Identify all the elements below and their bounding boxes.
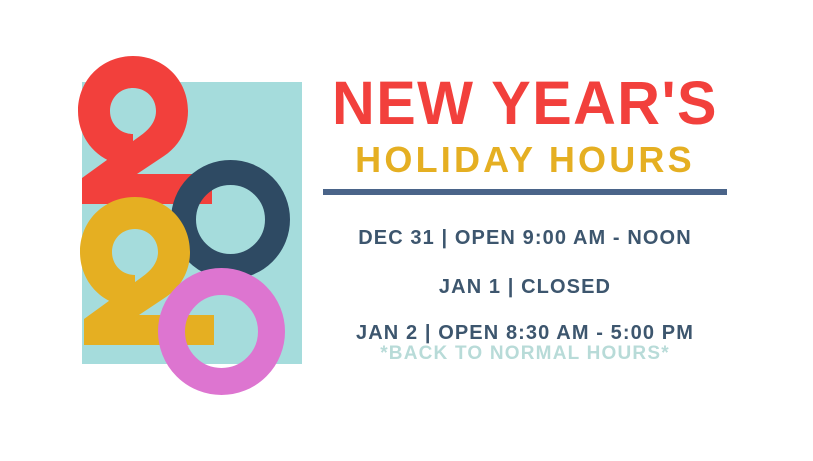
logo-2020-graphic — [0, 0, 320, 461]
digit-zero-pink-icon — [158, 268, 285, 395]
headline-divider-rule — [323, 189, 727, 195]
hours-line-dec-31: DEC 31 | OPEN 9:00 AM - NOON — [320, 227, 730, 250]
text-column: NEW YEAR'S HOLIDAY HOURS DEC 31 | OPEN 9… — [320, 0, 813, 461]
headline-sub: HOLIDAY HOURS — [320, 140, 730, 180]
holiday-hours-poster: NEW YEAR'S HOLIDAY HOURS DEC 31 | OPEN 9… — [0, 0, 813, 461]
headline-main: NEW YEAR'S — [326, 72, 724, 134]
hours-line-jan-2: JAN 2 | OPEN 8:30 AM - 5:00 PM — [320, 322, 730, 345]
hours-footnote: *BACK TO NORMAL HOURS* — [320, 343, 730, 365]
hours-line-jan-1: JAN 1 | CLOSED — [320, 276, 730, 299]
